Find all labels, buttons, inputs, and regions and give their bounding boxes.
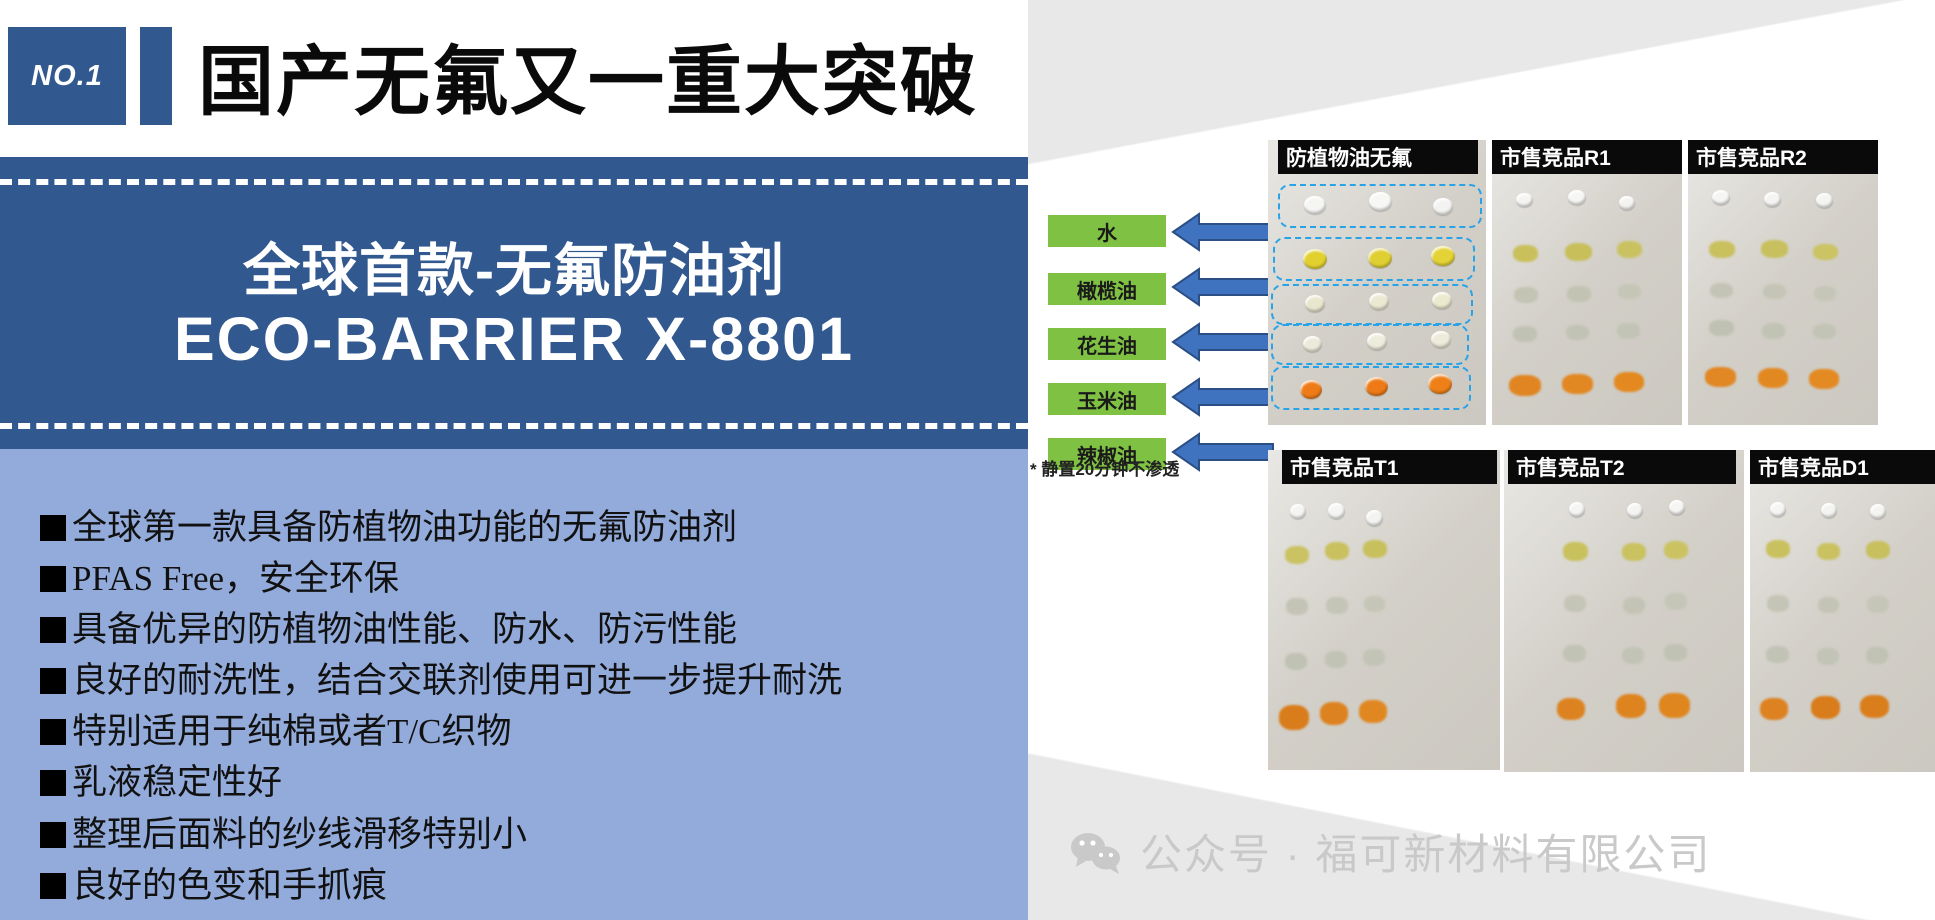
test-row-label-group: 水 橄榄油 花生油 玉米油 辣椒油	[1048, 215, 1168, 493]
list-item-label: 良好的耐洗性，结合交联剂使用可进一步提升耐洗	[72, 659, 842, 703]
header-accent-bar	[140, 27, 172, 125]
watermark-text: 公众号 · 福可新材料有限公司	[1140, 821, 1711, 882]
slide-header: NO.1 国产无氟又一重大突破	[0, 0, 1028, 155]
list-item: 良好的耐洗性，结合交联剂使用可进一步提升耐洗	[40, 659, 1028, 703]
left-content-column: NO.1 国产无氟又一重大突破 全球首款-无氟防油剂 ECO-BARRIER X…	[0, 0, 1028, 920]
list-item-label: 良好的色变和手抓痕	[72, 864, 387, 908]
sample-panel-r1: 市售竞品R1	[1492, 140, 1682, 425]
hero-title-cn: 全球首款-无氟防油剂	[243, 238, 785, 304]
hero-dashed-divider-top	[0, 179, 1028, 185]
panel-title-text: 市售竞品R1	[1500, 142, 1611, 172]
list-item-label: 乳液稳定性好	[72, 761, 282, 805]
list-item: 整理后面料的纱线滑移特别小	[40, 813, 1028, 857]
square-bullet-icon	[40, 873, 66, 899]
square-bullet-icon	[40, 515, 66, 541]
panel-title-nonfluoro: 防植物油无氟	[1278, 140, 1478, 174]
list-item-label: 全球第一款具备防植物油功能的无氟防油剂	[72, 506, 737, 550]
square-bullet-icon	[40, 668, 66, 694]
list-item-label: 特别适用于纯棉或者T/C织物	[72, 710, 511, 754]
watermark: 公众号 · 福可新材料有限公司	[1068, 821, 1711, 882]
panel-title-text: 市售竞品D1	[1758, 452, 1869, 482]
list-item-label: 整理后面料的纱线滑移特别小	[72, 813, 527, 857]
sample-panel-r2: 市售竞品R2	[1688, 140, 1878, 425]
list-item: 全球第一款具备防植物油功能的无氟防油剂	[40, 506, 1028, 550]
wechat-icon	[1068, 829, 1126, 875]
list-item-label: 具备优异的防植物油性能、防水、防污性能	[72, 608, 737, 652]
list-item-label: PFAS Free，安全环保	[72, 557, 399, 601]
hero-title-en: ECO-BARRIER X-8801	[174, 304, 854, 375]
row-label-text: 水	[1097, 217, 1117, 246]
panel-title-t2: 市售竞品T2	[1508, 450, 1736, 484]
sample-panel-nonfluoro: 防植物油无氟	[1268, 140, 1486, 425]
slide: NO.1 国产无氟又一重大突破 全球首款-无氟防油剂 ECO-BARRIER X…	[0, 0, 1935, 920]
right-image-column: 水 橄榄油 花生油 玉米油 辣椒油	[1028, 0, 1935, 920]
hero-dashed-divider-bottom	[0, 423, 1028, 429]
square-bullet-icon	[40, 822, 66, 848]
test-footnote: * 静置20分钟不渗透	[1030, 455, 1250, 480]
panel-title-r1: 市售竞品R1	[1492, 140, 1682, 174]
page-title: 国产无氟又一重大突破	[198, 22, 988, 128]
panel-title-text: 防植物油无氟	[1286, 142, 1412, 172]
sample-panel-d1: 市售竞品D1	[1750, 450, 1935, 772]
list-item: 乳液稳定性好	[40, 761, 1028, 805]
square-bullet-icon	[40, 617, 66, 643]
list-item: 具备优异的防植物油性能、防水、防污性能	[40, 608, 1028, 652]
no1-badge: NO.1	[8, 27, 126, 125]
left-arrow-icon	[1171, 322, 1275, 362]
row-label-peanut-oil: 花生油	[1048, 328, 1166, 360]
list-item: 特别适用于纯棉或者T/C织物	[40, 710, 1028, 754]
arrow-group	[1171, 212, 1281, 487]
row-label-text: 橄榄油	[1077, 275, 1137, 304]
panel-title-text: 市售竞品T1	[1290, 452, 1399, 482]
sample-panel-t2: 市售竞品T2	[1504, 450, 1744, 772]
left-arrow-icon	[1171, 377, 1275, 417]
no1-badge-label: NO.1	[31, 60, 103, 93]
panel-title-text: 市售竞品T2	[1516, 452, 1625, 482]
list-item: 良好的色变和手抓痕	[40, 864, 1028, 908]
sample-panel-row-top: 防植物油无氟	[1268, 130, 1928, 440]
panel-title-d1: 市售竞品D1	[1750, 450, 1935, 484]
row-label-water: 水	[1048, 215, 1166, 247]
square-bullet-icon	[40, 770, 66, 796]
hero-text-group: 全球首款-无氟防油剂 ECO-BARRIER X-8801	[0, 211, 1028, 401]
row-label-text: 花生油	[1077, 330, 1137, 359]
panel-title-t1: 市售竞品T1	[1282, 450, 1497, 484]
square-bullet-icon	[40, 719, 66, 745]
feature-bullet-list: 全球第一款具备防植物油功能的无氟防油剂 PFAS Free，安全环保 具备优异的…	[0, 449, 1028, 920]
square-bullet-icon	[40, 566, 66, 592]
panel-title-r2: 市售竞品R2	[1688, 140, 1878, 174]
row-label-text: 玉米油	[1077, 385, 1137, 414]
row-label-corn-oil: 玉米油	[1048, 383, 1166, 415]
row-label-olive-oil: 橄榄油	[1048, 273, 1166, 305]
panel-title-text: 市售竞品R2	[1696, 142, 1807, 172]
left-arrow-icon	[1171, 212, 1275, 252]
list-item: PFAS Free，安全环保	[40, 557, 1028, 601]
sample-panel-row-bottom: 市售竞品T1 市售竞品	[1268, 450, 1928, 780]
sample-panel-t1: 市售竞品T1	[1268, 450, 1500, 770]
hero-banner: 全球首款-无氟防油剂 ECO-BARRIER X-8801	[0, 157, 1028, 449]
left-arrow-icon	[1171, 267, 1275, 307]
